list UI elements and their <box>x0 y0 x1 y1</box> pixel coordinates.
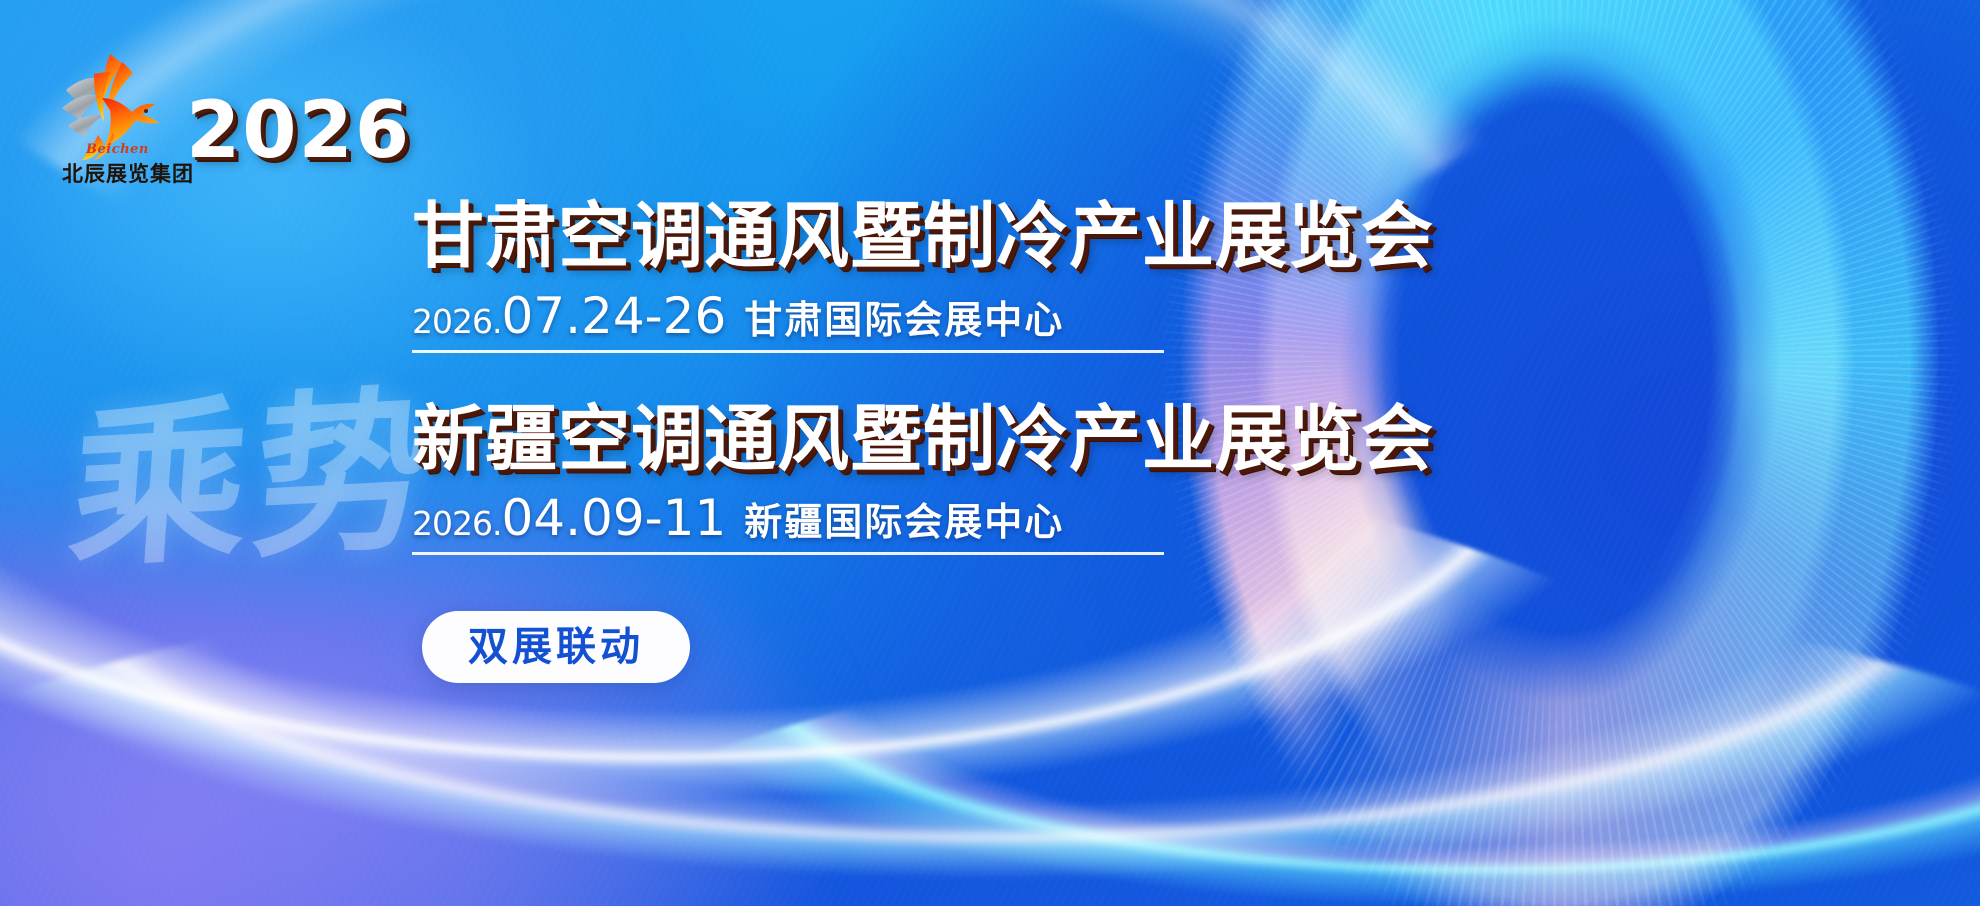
exhibition-date-rest-xinjiang: 04.09-11 <box>501 489 726 547</box>
exhibition-banner: 乘势 <box>0 0 1980 906</box>
dual-expo-cta-button[interactable]: 双展联动 <box>422 611 690 683</box>
exhibition-title-gansu: 甘肃空调通风暨制冷产业展览会 <box>412 196 1592 277</box>
exhibition-venue-gansu: 甘肃国际会展中心 <box>744 301 1064 339</box>
exhibition-venue-xinjiang: 新疆国际会展中心 <box>744 503 1064 541</box>
exhibition-entry-gansu: 甘肃空调通风暨制冷产业展览会 2026.07.24-26 甘肃国际会展中心 <box>412 196 1592 353</box>
exhibition-date-year-gansu: 2026. <box>412 302 501 341</box>
exhibition-date-rest-gansu: 07.24-26 <box>501 287 726 345</box>
exhibition-date-xinjiang: 2026.04.09-11 <box>412 493 726 543</box>
exhibition-date-year-xinjiang: 2026. <box>412 504 501 543</box>
dual-expo-cta-label: 双展联动 <box>468 627 644 667</box>
exhibition-entry-xinjiang: 新疆空调通风暨制冷产业展览会 2026.04.09-11 新疆国际会展中心 <box>412 399 1592 556</box>
logo-script-name: Beichen <box>86 142 149 157</box>
exhibition-date-gansu: 2026.07.24-26 <box>412 291 726 341</box>
logo-mark: Beichen 北辰展览集团 <box>58 48 168 180</box>
exhibition-meta-gansu: 2026.07.24-26 甘肃国际会展中心 <box>412 291 1164 353</box>
main-content: 甘肃空调通风暨制冷产业展览会 2026.07.24-26 甘肃国际会展中心 新疆… <box>412 196 1592 683</box>
calligraphy-watermark: 乘势 <box>65 383 443 578</box>
section-spacer <box>412 353 1592 399</box>
brand-logo-block[interactable]: Beichen 北辰展览集团 2026 <box>58 48 411 180</box>
logo-company-name: 北辰展览集团 <box>62 158 194 188</box>
exhibition-meta-xinjiang: 2026.04.09-11 新疆国际会展中心 <box>412 493 1164 555</box>
year-badge: 2026 <box>186 92 411 170</box>
exhibition-title-xinjiang: 新疆空调通风暨制冷产业展览会 <box>412 399 1592 480</box>
